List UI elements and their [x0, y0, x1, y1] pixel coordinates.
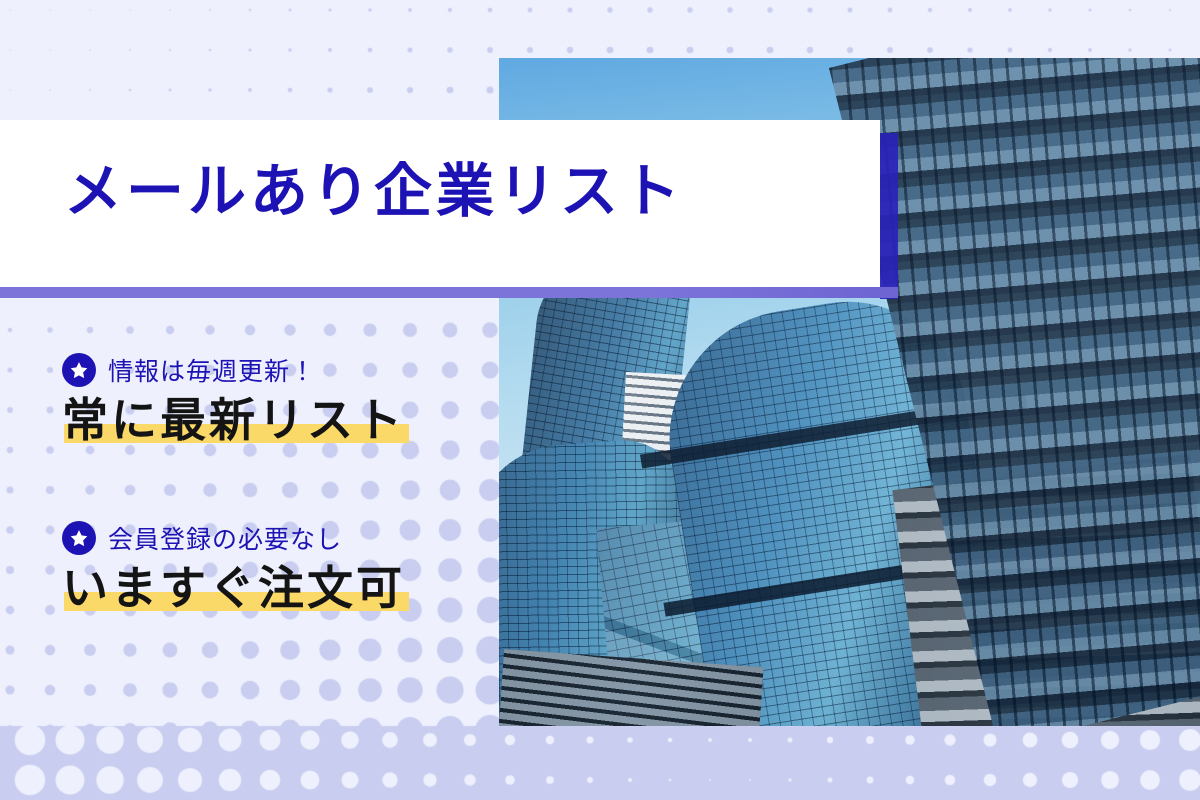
- star-badge-icon: [62, 353, 96, 387]
- feature-subtitle: 会員登録の必要なし: [108, 520, 342, 556]
- feature-heading: 情報は毎週更新！: [62, 352, 405, 388]
- title-band-shadow-bottom: [0, 287, 898, 298]
- feature-main-text: 常に最新リスト: [62, 394, 405, 446]
- feature-heading: 会員登録の必要なし: [62, 520, 405, 556]
- feature-item: 情報は毎週更新！ 常に最新リスト: [62, 352, 405, 447]
- feature-item: 会員登録の必要なし いますぐ注文可: [62, 520, 405, 615]
- feature-main-wrap: 常に最新リスト: [62, 394, 405, 447]
- feature-subtitle: 情報は毎週更新！: [108, 352, 316, 388]
- star-badge-icon: [62, 521, 96, 555]
- feature-main-wrap: いますぐ注文可: [62, 562, 405, 615]
- feature-main-text: いますぐ注文可: [62, 562, 405, 614]
- title-band-shadow-right: [880, 133, 898, 299]
- poster-canvas: メールあり企業リスト 情報は毎週更新！ 常に最新リスト 会員登録の必要なし: [0, 0, 1200, 800]
- page-title: メールあり企業リスト: [64, 160, 824, 224]
